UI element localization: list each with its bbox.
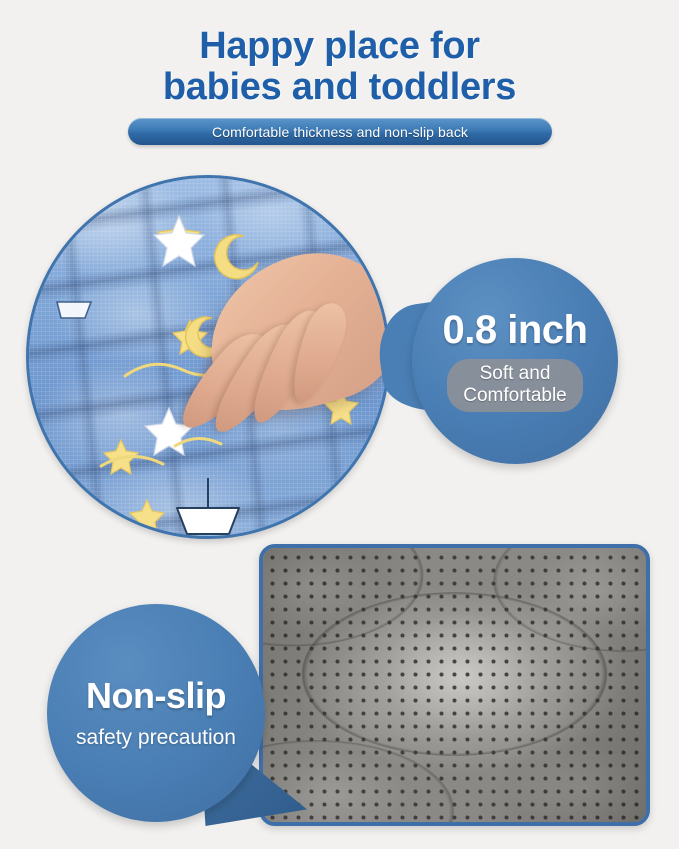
comfort-pill-line-1: Soft and <box>463 363 567 384</box>
nonslip-callout: Non-slip safety precaution <box>47 604 312 829</box>
grip-shading <box>263 548 646 822</box>
page-title: Happy place for babies and toddlers <box>0 26 679 107</box>
nonslip-subtitle: safety precaution <box>76 727 236 748</box>
nonslip-callout-content: Non-slip safety precaution <box>47 604 265 822</box>
subtitle-banner: Comfortable thickness and non-slip back <box>128 118 552 145</box>
thickness-callout: 0.8 inch Soft and Comfortable <box>398 258 618 478</box>
hand-pressing <box>147 257 390 487</box>
infographic-page: Happy place for babies and toddlers Comf… <box>0 0 679 849</box>
subtitle-text: Comfortable thickness and non-slip back <box>212 124 468 140</box>
comfort-pill-line-2: Comfortable <box>463 385 567 406</box>
callout-content: 0.8 inch Soft and Comfortable <box>412 258 618 464</box>
mattress-top-photo <box>26 175 390 539</box>
nonslip-title: Non-slip <box>86 678 226 714</box>
thickness-value: 0.8 inch <box>443 310 588 350</box>
title-line-2: babies and toddlers <box>0 67 679 108</box>
title-line-1: Happy place for <box>0 26 679 67</box>
comfort-pill: Soft and Comfortable <box>447 359 583 412</box>
nonslip-backing-photo <box>259 544 650 826</box>
